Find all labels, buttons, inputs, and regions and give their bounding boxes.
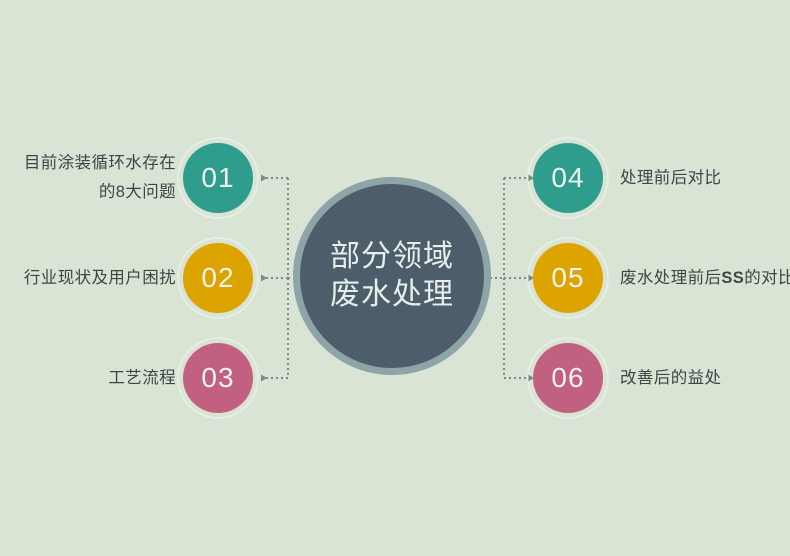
node-circle-02[interactable]: 02 [183, 243, 253, 313]
node-label-01: 目前涂装循环水存在的8大问题 [8, 149, 176, 207]
node-circle-03[interactable]: 03 [183, 343, 253, 413]
node-circle-05[interactable]: 05 [533, 243, 603, 313]
node-number-06: 06 [551, 362, 584, 394]
node-label-03: 工艺流程 [8, 364, 176, 393]
node-circle-04[interactable]: 04 [533, 143, 603, 213]
node-number-05: 05 [551, 262, 584, 294]
node-label-04: 处理前后对比 [620, 164, 790, 193]
node-number-04: 04 [551, 162, 584, 194]
infographic-canvas: 部分领域废水处理 01 目前涂装循环水存在的8大问题 02 行业现状及用户困扰 … [0, 0, 790, 556]
node-number-02: 02 [201, 262, 234, 294]
center-hub-label: 部分领域废水处理 [327, 238, 457, 315]
node-number-03: 03 [201, 362, 234, 394]
node-label-06: 改善后的益处 [620, 364, 790, 393]
node-label-05: 废水处理前后SS的对比 [620, 264, 790, 293]
node-circle-06[interactable]: 06 [533, 343, 603, 413]
node-number-01: 01 [201, 162, 234, 194]
center-hub[interactable]: 部分领域废水处理 [300, 184, 484, 368]
node-label-02: 行业现状及用户困扰 [8, 264, 176, 293]
node-circle-01[interactable]: 01 [183, 143, 253, 213]
